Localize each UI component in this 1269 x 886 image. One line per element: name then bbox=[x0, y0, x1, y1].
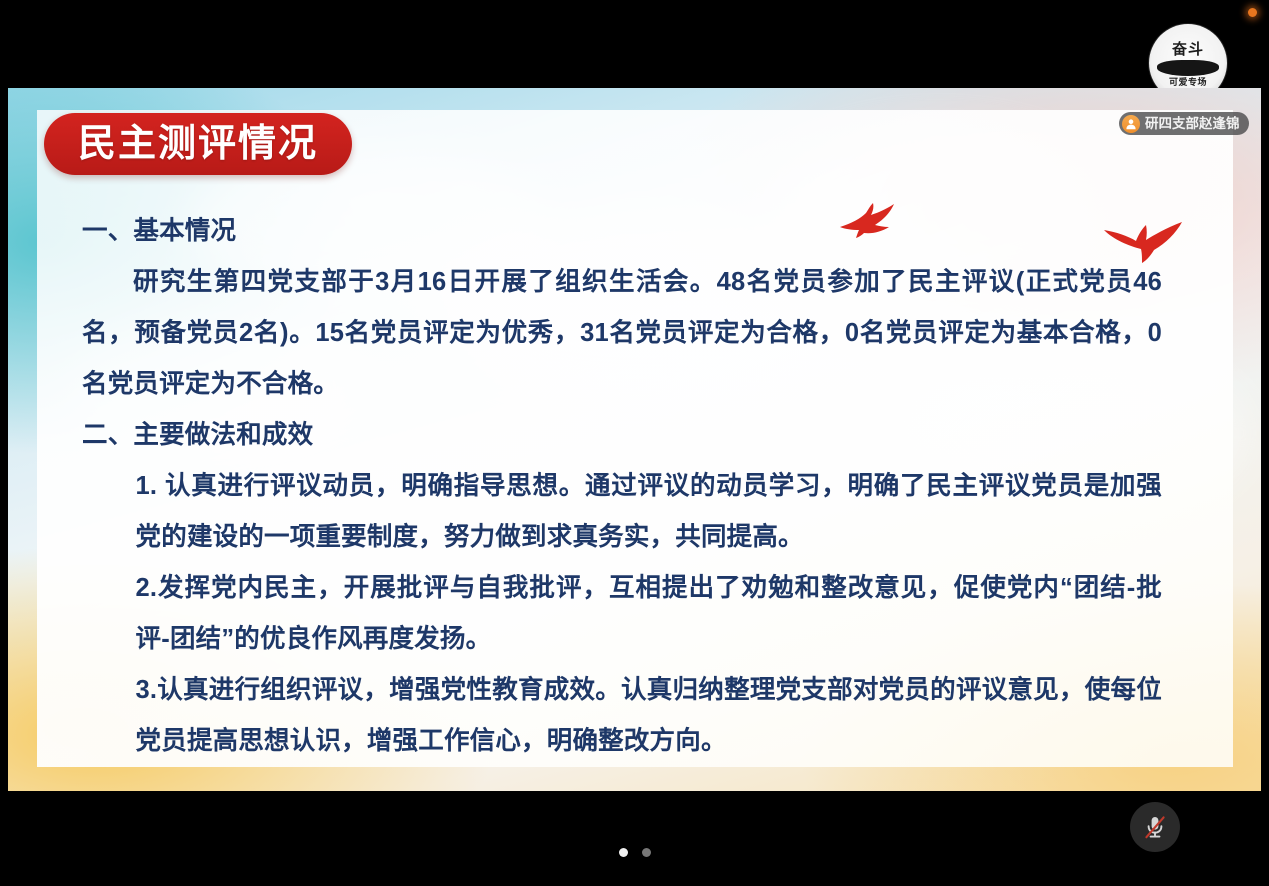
recording-dot-icon bbox=[1248, 8, 1257, 17]
screen-share-viewport: 奋斗 可爱专场 民主测评情况 一、基本情况 bbox=[0, 0, 1269, 886]
section-paragraph-1: 研究生第四党支部于3月16日开展了组织生活会。48名党员参加了民主评议(正式党员… bbox=[82, 257, 1162, 410]
presenter-name: 研四支部赵逢锦 bbox=[1145, 117, 1240, 131]
slide-title-pill: 民主测评情况 bbox=[44, 113, 352, 175]
logo-bottom-text: 可爱专场 bbox=[1169, 78, 1207, 87]
section-heading-1: 一、基本情况 bbox=[82, 206, 1162, 257]
user-avatar-icon bbox=[1122, 115, 1140, 133]
presentation-slide: 民主测评情况 一、基本情况 研究生第四党支部于3月16日开展了组织生活会。48名… bbox=[8, 88, 1261, 791]
page-dot-2[interactable] bbox=[642, 848, 651, 857]
page-indicator-dots[interactable] bbox=[619, 848, 651, 857]
section-heading-2: 二、主要做法和成效 bbox=[82, 410, 1162, 461]
presenter-name-badge: 研四支部赵逢锦 bbox=[1119, 112, 1249, 135]
list-item-2: 2.发挥党内民主，开展批评与自我批评，互相提出了劝勉和整改意见，促使党内“团结-… bbox=[82, 563, 1162, 665]
slide-body-text: 一、基本情况 研究生第四党支部于3月16日开展了组织生活会。48名党员参加了民主… bbox=[82, 206, 1162, 767]
list-item-1: 1. 认真进行评议动员，明确指导思想。通过评议的动员学习，明确了民主评议党员是加… bbox=[82, 461, 1162, 563]
microphone-muted-icon[interactable] bbox=[1130, 802, 1180, 852]
page-title: 民主测评情况 bbox=[78, 125, 318, 163]
logo-shape bbox=[1157, 60, 1219, 76]
logo-top-text: 奋斗 bbox=[1172, 42, 1204, 57]
page-dot-1[interactable] bbox=[619, 848, 628, 857]
list-item-3: 3.认真进行组织评议，增强党性教育成效。认真归纳整理党支部对党员的评议意见，使每… bbox=[82, 665, 1162, 767]
